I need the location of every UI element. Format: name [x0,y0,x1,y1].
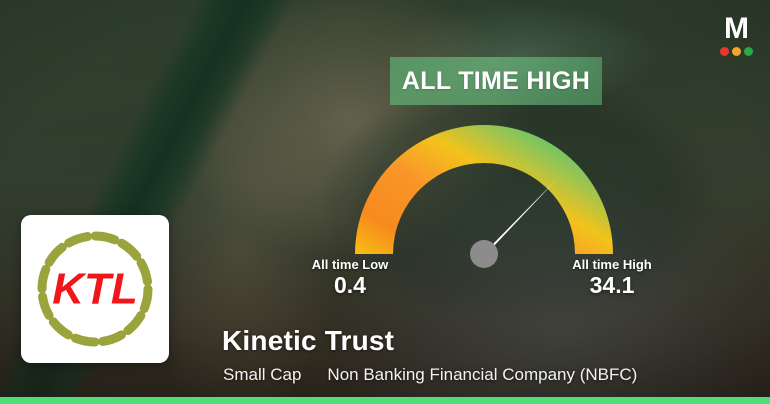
company-sector: Non Banking Financial Company (NBFC) [327,365,637,385]
brand-dots [715,47,757,56]
all-time-low-value: 0.4 [290,272,410,299]
all-time-low-label: All time Low [290,257,410,272]
amber-dot [732,47,741,56]
all-time-high-label: All time High [552,257,672,272]
company-logo-text: KTL [52,265,138,314]
moneycontrol-logo[interactable]: M [715,14,757,56]
all-time-high-value: 34.1 [552,272,672,299]
green-dot [744,47,753,56]
brand-letter-m: M [715,14,757,44]
stock-highlight-card: M ALL TIME HIGH [0,0,770,404]
footer-accent-stripe [0,397,770,404]
company-meta: Small Cap Non Banking Financial Company … [223,365,637,385]
gauge-arc [355,125,613,254]
all-time-high-banner: ALL TIME HIGH [390,57,602,105]
banner-label: ALL TIME HIGH [402,67,590,96]
all-time-high-gauge [345,115,625,265]
company-logo-tile[interactable]: KTL [21,215,169,363]
market-cap-category: Small Cap [223,365,301,385]
gauge-hub [470,240,498,268]
red-dot [720,47,729,56]
company-name: Kinetic Trust [222,325,394,357]
